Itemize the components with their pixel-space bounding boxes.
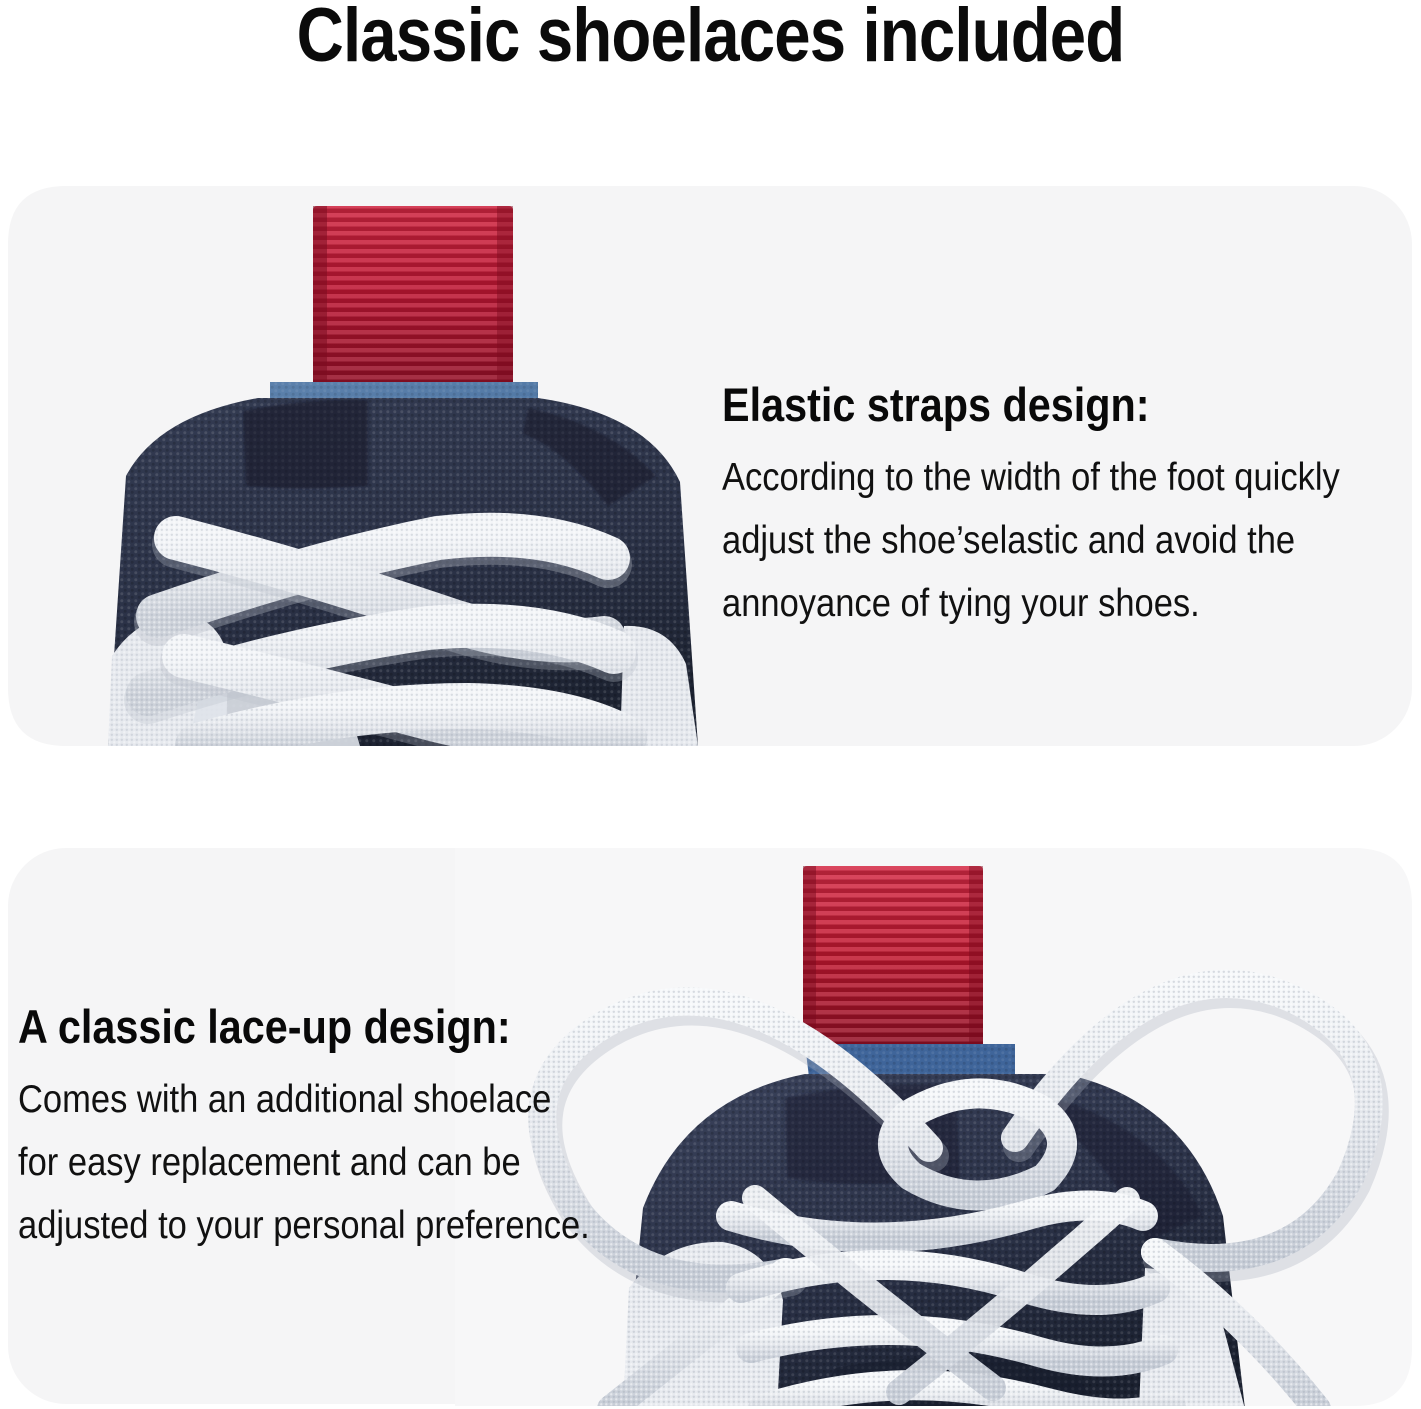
feature-body-line: Comes with an additional shoelace <box>18 1068 584 1131</box>
feature-body: According to the width of the foot quick… <box>722 446 1342 635</box>
feature-text-lace-up: A classic lace-up design: Comes with an … <box>18 1000 658 1257</box>
red-pull-tab <box>313 206 513 396</box>
feature-heading: A classic lace-up design: <box>18 1000 581 1054</box>
feature-heading: Elastic straps design: <box>722 378 1338 432</box>
feature-body: Comes with an additional shoelace for ea… <box>18 1068 584 1257</box>
red-pull-tab <box>803 866 983 1054</box>
page-title: Classic shoelaces included <box>99 0 1321 79</box>
sneaker-elastic-straps-photo: JOR <box>8 186 768 746</box>
infographic-page: Classic shoelaces included <box>0 0 1421 1409</box>
feature-body-line: adjust the shoe’selastic and avoid the <box>722 509 1342 572</box>
feature-body-line: annoyance of tying your shoes. <box>722 572 1342 635</box>
feature-body-line: According to the width of the foot quick… <box>722 446 1342 509</box>
feature-body-line: adjusted to your personal preference. <box>18 1194 584 1257</box>
feature-text-elastic-straps: Elastic straps design: According to the … <box>722 378 1421 635</box>
feature-body-line: for easy replacement and can be <box>18 1131 584 1194</box>
